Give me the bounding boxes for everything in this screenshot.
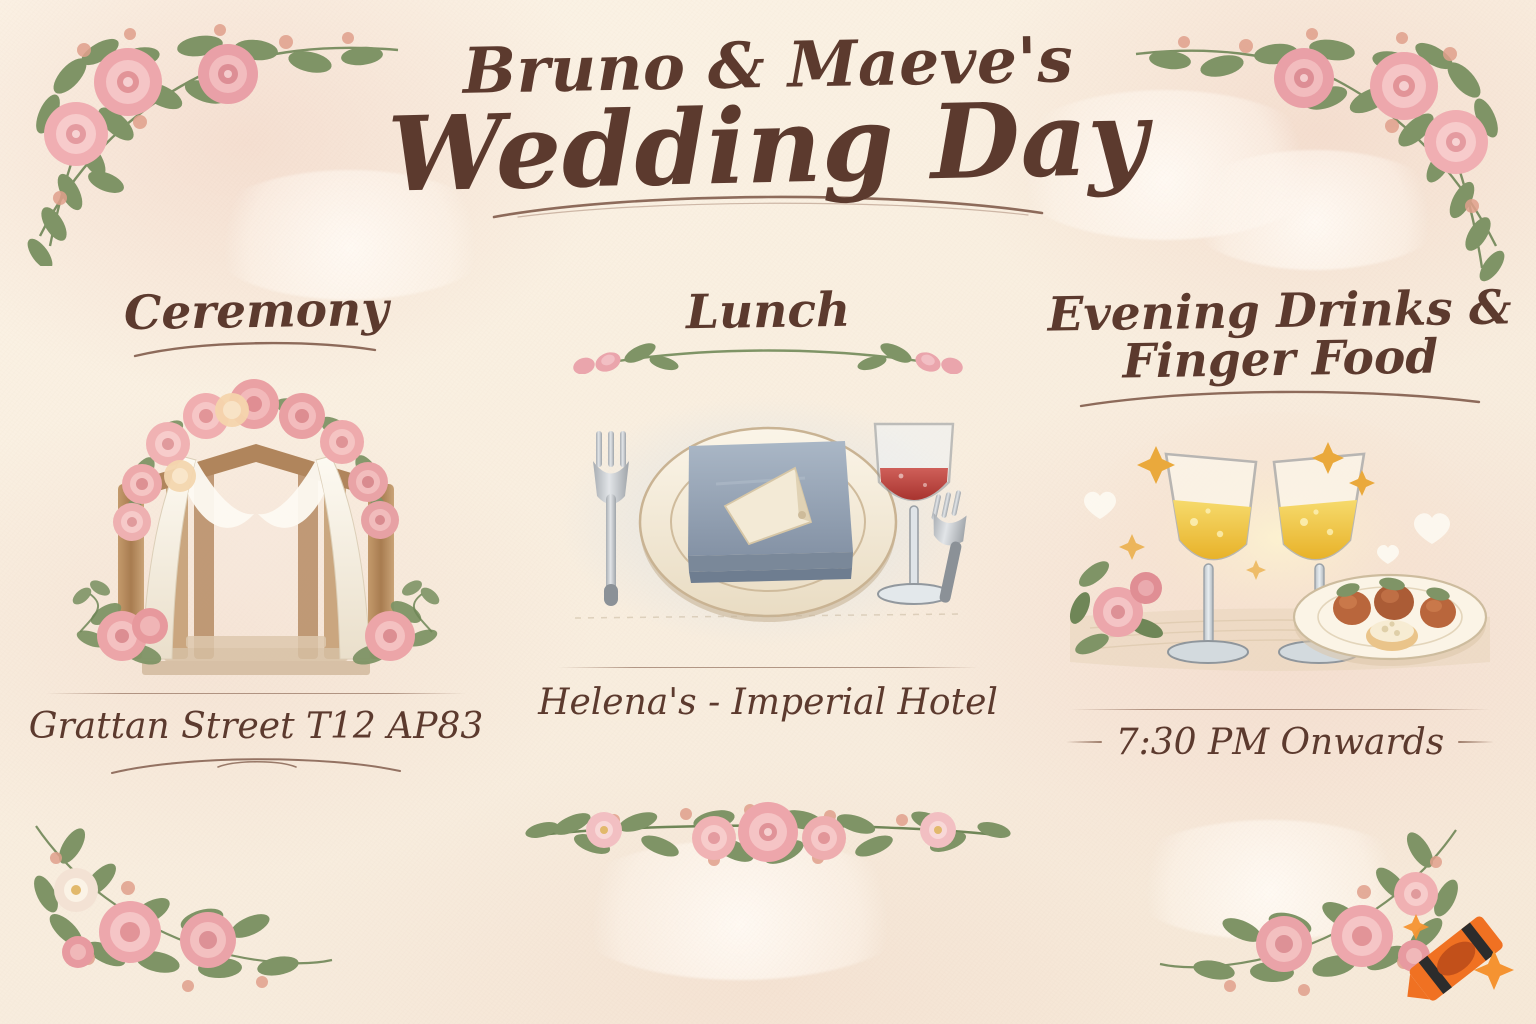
title-block: Bruno & Maeve's Wedding Day <box>0 34 1536 221</box>
caption-divider <box>46 693 466 694</box>
canape-plate <box>1294 575 1486 666</box>
column-heading-ceremony: Ceremony <box>123 286 388 338</box>
craiyon-watermark-icon <box>1394 904 1522 1014</box>
corner-floral-bottom-left <box>10 796 340 1016</box>
caption-divider <box>1070 709 1490 710</box>
caption-evening-row: 7:30 PM Onwards <box>1066 722 1495 763</box>
floral-vine-divider-icon <box>568 334 968 374</box>
caption-lunch: Helena's - Imperial Hotel <box>538 682 998 723</box>
rose-garland-divider <box>518 786 1018 886</box>
itinerary-columns: Ceremony <box>0 288 1536 779</box>
illustration-champagne-toast <box>1060 412 1500 707</box>
column-ceremony: Ceremony <box>0 288 512 779</box>
heading-underline-icon <box>131 338 381 360</box>
caption-divider <box>558 667 978 668</box>
column-heading-evening: Evening Drinks & Finger Food <box>1047 284 1512 387</box>
caption-swash-icon <box>106 749 406 779</box>
caption-evening: 7:30 PM Onwards <box>1116 722 1445 763</box>
caption-dash-right <box>1458 741 1494 743</box>
cloud-shape <box>560 840 920 980</box>
caption-ceremony: Grattan Street T12 AP83 <box>29 706 484 747</box>
column-evening: Evening Drinks & Finger Food <box>1024 288 1536 779</box>
wedding-invitation-poster: Bruno & Maeve's Wedding Day Ceremony <box>0 0 1536 1024</box>
cloud-shape <box>1120 820 1420 940</box>
column-lunch: Lunch <box>512 288 1024 779</box>
caption-dash-left <box>1066 741 1102 743</box>
illustration-place-setting <box>553 386 983 661</box>
illustration-wedding-arch <box>46 364 466 689</box>
heading-underline-icon <box>1075 386 1485 410</box>
column-heading-lunch: Lunch <box>686 287 851 338</box>
